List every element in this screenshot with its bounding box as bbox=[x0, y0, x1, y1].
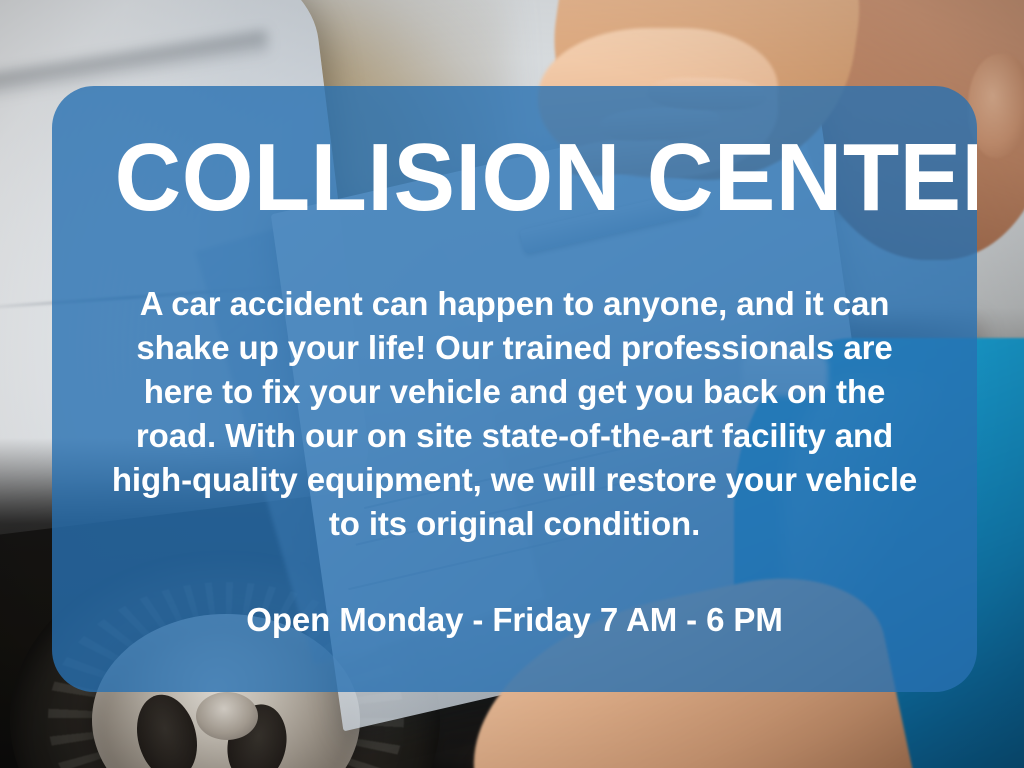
blue-overlay-panel: COLLISION CENTER A car accident can happ… bbox=[52, 86, 977, 692]
page-title: COLLISION CENTER bbox=[115, 130, 915, 226]
banner-canvas: COLLISION CENTER A car accident can happ… bbox=[0, 0, 1024, 768]
wheel-center-cap bbox=[196, 692, 258, 740]
business-hours: Open Monday - Friday 7 AM - 6 PM bbox=[246, 598, 782, 642]
body-paragraph: A car accident can happen to anyone, and… bbox=[109, 282, 921, 546]
